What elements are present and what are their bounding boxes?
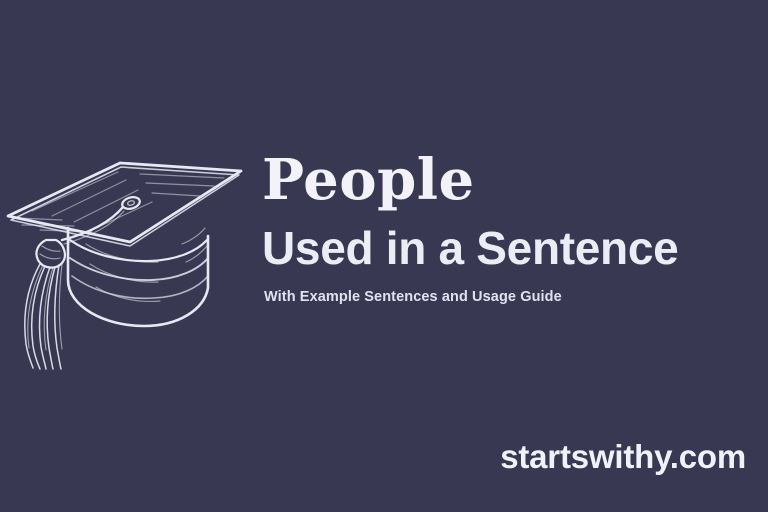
- site-brand: startswithy.com: [500, 437, 746, 477]
- page-title-word: People: [262, 152, 762, 208]
- page-title: Used in a Sentence: [262, 224, 762, 272]
- graduation-cap-icon: [0, 140, 250, 370]
- poster-canvas: People Used in a Sentence With Example S…: [0, 0, 768, 512]
- page-subtitle: With Example Sentences and Usage Guide: [264, 289, 762, 306]
- cap-button: [121, 195, 141, 211]
- headline-block: People Used in a Sentence With Example S…: [262, 152, 762, 307]
